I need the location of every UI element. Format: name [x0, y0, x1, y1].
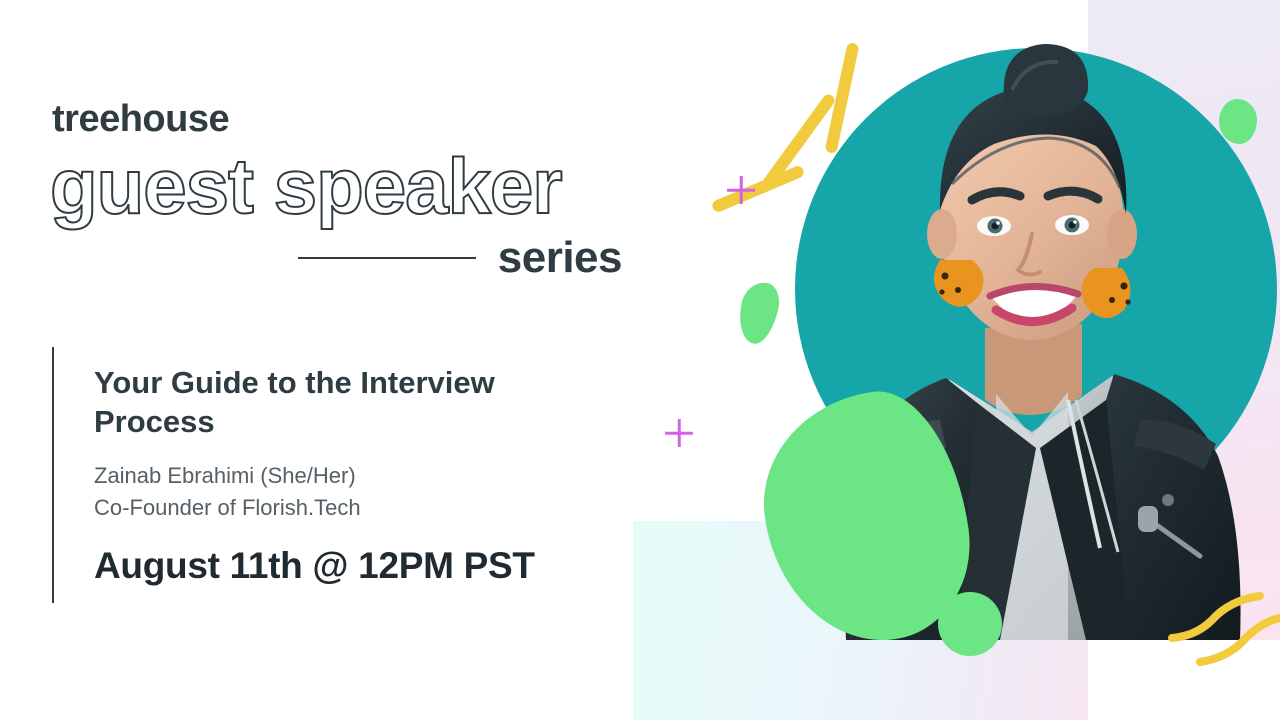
promo-slide: treehouse guest speaker series Your Guid…	[0, 0, 1280, 720]
plus-mark-icon	[727, 176, 755, 204]
headline-outline-text: guest speaker	[50, 144, 670, 228]
event-datetime: August 11th @ 12PM PST	[94, 547, 535, 584]
organic-blob-icon	[734, 279, 783, 347]
title-block: treehouse guest speaker series	[50, 100, 670, 280]
speaker-role: Co-Founder of Florish.Tech	[94, 492, 535, 524]
series-label: series	[498, 236, 622, 280]
plus-mark-icon	[665, 419, 693, 447]
speaker-name: Zainab Ebrahimi (She/Her)	[94, 460, 535, 492]
talk-title: Your Guide to the Interview Process	[94, 363, 534, 441]
series-row: series	[50, 236, 622, 280]
wavy-line-icon	[1168, 592, 1280, 668]
series-divider-rule	[298, 257, 476, 259]
brand-wordmark: treehouse	[52, 100, 670, 138]
spark-burst-icon	[711, 164, 806, 213]
session-info-block: Your Guide to the Interview Process Zain…	[52, 347, 535, 603]
organic-blob-icon	[938, 592, 1002, 656]
